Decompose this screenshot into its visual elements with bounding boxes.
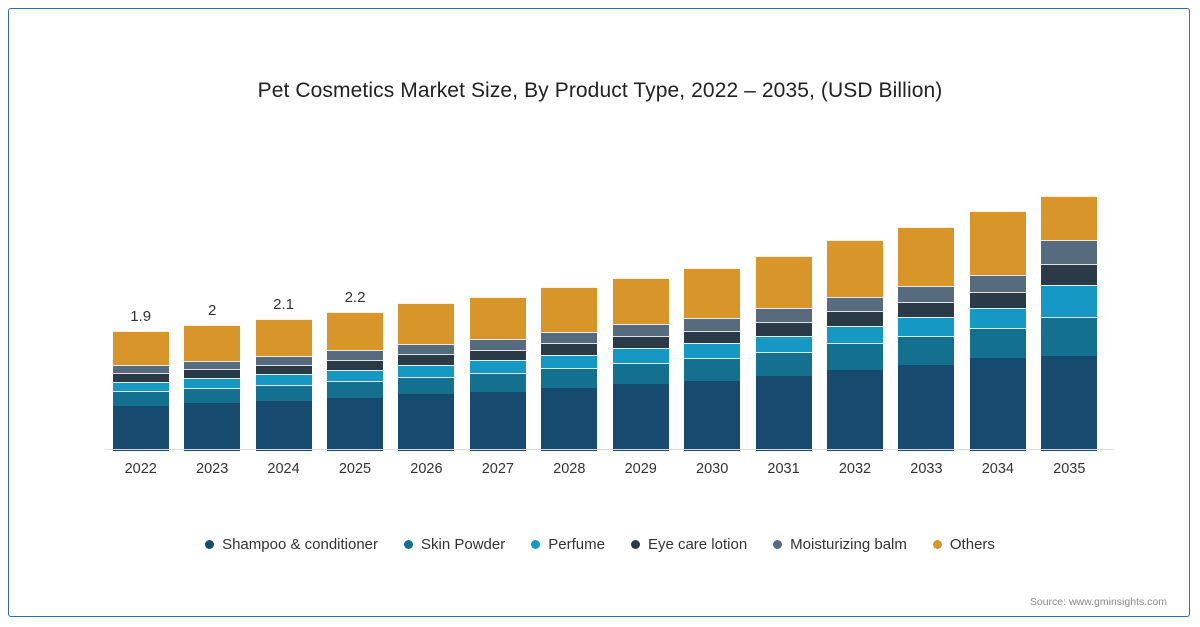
bar-segment[interactable] — [327, 350, 383, 359]
bar-segment[interactable] — [970, 328, 1026, 358]
legend-marker-icon — [531, 540, 540, 549]
bar-segment[interactable] — [113, 391, 169, 406]
bar-value-label: 2 — [172, 302, 252, 319]
legend-label: Others — [950, 536, 995, 553]
bar-segment[interactable] — [1041, 356, 1097, 451]
bar-segment[interactable] — [684, 268, 740, 318]
bar-segment[interactable] — [898, 336, 954, 364]
bar-segment[interactable] — [970, 308, 1026, 328]
stacked-bar[interactable] — [756, 256, 812, 451]
bar-segment[interactable] — [1041, 240, 1097, 263]
bar-value-label: 1.9 — [101, 308, 181, 325]
bar-segment[interactable] — [327, 370, 383, 381]
x-axis-label: 2035 — [1029, 461, 1109, 477]
bar-segment[interactable] — [327, 360, 383, 370]
stacked-bar[interactable] — [898, 227, 954, 451]
bar-segment[interactable] — [756, 336, 812, 352]
legend-marker-icon — [933, 540, 942, 549]
x-axis-label: 2030 — [672, 461, 752, 477]
bar-segment[interactable] — [684, 358, 740, 381]
legend-marker-icon — [631, 540, 640, 549]
source-attribution: Source: www.gminsights.com — [1030, 596, 1167, 608]
bar-segment[interactable] — [184, 388, 240, 403]
bar-segment[interactable] — [256, 365, 312, 374]
legend-label: Shampoo & conditioner — [222, 536, 378, 553]
bar-value-label: 2.2 — [315, 289, 395, 306]
bar-segment[interactable] — [613, 278, 669, 325]
stacked-bar[interactable] — [184, 325, 240, 451]
bar-segment[interactable] — [327, 381, 383, 398]
bar-segment[interactable] — [113, 365, 169, 373]
bar-segment[interactable] — [898, 317, 954, 336]
x-axis-label: 2033 — [886, 461, 966, 477]
bar-segment[interactable] — [256, 356, 312, 365]
bar-segment[interactable] — [898, 365, 954, 451]
legend-label: Moisturizing balm — [790, 536, 907, 553]
bar-segment[interactable] — [184, 403, 240, 451]
bar-segment[interactable] — [470, 339, 526, 350]
bar-segment[interactable] — [684, 381, 740, 451]
bar-segment[interactable] — [613, 336, 669, 348]
x-axis-label: 2029 — [601, 461, 681, 477]
bar-segment[interactable] — [827, 370, 883, 451]
bar-segment[interactable] — [827, 311, 883, 326]
bar-segment[interactable] — [1041, 317, 1097, 357]
bar-segment[interactable] — [541, 332, 597, 343]
bar-segment[interactable] — [756, 352, 812, 376]
bar-value-label: 2.1 — [244, 296, 324, 313]
stacked-bar[interactable] — [613, 278, 669, 451]
bar-segment[interactable] — [398, 344, 454, 354]
bar-segment[interactable] — [613, 363, 669, 384]
stacked-bar[interactable] — [541, 287, 597, 451]
bar-segment[interactable] — [827, 240, 883, 297]
legend-item[interactable]: Perfume — [531, 536, 605, 553]
bar-segment[interactable] — [756, 256, 812, 308]
legend-item[interactable]: Shampoo & conditioner — [205, 536, 378, 553]
x-axis-label: 2024 — [244, 461, 324, 477]
legend-item[interactable]: Skin Powder — [404, 536, 505, 553]
bar-segment[interactable] — [541, 355, 597, 368]
stacked-bar[interactable] — [827, 240, 883, 451]
bar-segment[interactable] — [113, 331, 169, 365]
bar-segment[interactable] — [470, 360, 526, 373]
legend-marker-icon — [773, 540, 782, 549]
bar-segment[interactable] — [398, 365, 454, 377]
bar-segment[interactable] — [113, 406, 169, 451]
bar-segment[interactable] — [827, 297, 883, 312]
stacked-bar[interactable] — [1041, 196, 1097, 451]
legend-item[interactable]: Others — [933, 536, 995, 553]
chart-legend: Shampoo & conditionerSkin PowderPerfumeE… — [9, 536, 1191, 553]
bar-segment[interactable] — [184, 369, 240, 378]
bar-segment[interactable] — [184, 325, 240, 361]
legend-label: Eye care lotion — [648, 536, 747, 553]
stacked-bar[interactable] — [470, 297, 526, 451]
legend-marker-icon — [205, 540, 214, 549]
legend-item[interactable]: Moisturizing balm — [773, 536, 907, 553]
x-axis-label: 2031 — [744, 461, 824, 477]
bar-segment[interactable] — [970, 211, 1026, 274]
bar-segment[interactable] — [684, 318, 740, 331]
x-axis-label: 2023 — [172, 461, 252, 477]
bar-segment[interactable] — [256, 385, 312, 401]
bar-segment[interactable] — [684, 331, 740, 344]
x-axis-label: 2034 — [958, 461, 1038, 477]
stacked-bar[interactable] — [684, 268, 740, 451]
bar-segment[interactable] — [470, 373, 526, 392]
bar-segment[interactable] — [113, 382, 169, 391]
bar-segment[interactable] — [1041, 264, 1097, 285]
plot-area: 1.922.12.2 — [105, 159, 1105, 451]
bar-segment[interactable] — [1041, 285, 1097, 317]
bar-segment[interactable] — [827, 343, 883, 369]
stacked-bar[interactable] — [970, 211, 1026, 451]
bar-segment[interactable] — [898, 302, 954, 318]
bar-segment[interactable] — [113, 373, 169, 382]
bar-segment[interactable] — [470, 350, 526, 361]
bar-segment[interactable] — [398, 394, 454, 451]
bar-segment[interactable] — [970, 358, 1026, 451]
bar-segment[interactable] — [756, 322, 812, 336]
x-axis-label: 2026 — [386, 461, 466, 477]
legend-label: Perfume — [548, 536, 605, 553]
x-axis-label: 2032 — [815, 461, 895, 477]
bar-segment[interactable] — [613, 324, 669, 336]
chart-frame: Pet Cosmetics Market Size, By Product Ty… — [8, 8, 1190, 617]
bar-segment[interactable] — [184, 361, 240, 369]
bar-segment[interactable] — [398, 354, 454, 365]
bar-segment[interactable] — [756, 376, 812, 451]
stacked-bar[interactable] — [398, 303, 454, 451]
x-axis-label: 2025 — [315, 461, 395, 477]
bar-segment[interactable] — [1041, 196, 1097, 241]
bar-segment[interactable] — [541, 287, 597, 332]
bar-segment[interactable] — [898, 286, 954, 302]
bar-segment[interactable] — [256, 374, 312, 385]
chart-title: Pet Cosmetics Market Size, By Product Ty… — [9, 79, 1191, 103]
legend-label: Skin Powder — [421, 536, 505, 553]
legend-item[interactable]: Eye care lotion — [631, 536, 747, 553]
bar-segment[interactable] — [256, 319, 312, 356]
bar-segment[interactable] — [256, 401, 312, 451]
bar-segment[interactable] — [898, 227, 954, 286]
bar-segment[interactable] — [541, 388, 597, 451]
bar-segment[interactable] — [184, 378, 240, 388]
bar-segment[interactable] — [327, 398, 383, 451]
stacked-bar[interactable] — [113, 331, 169, 451]
bar-segment[interactable] — [398, 377, 454, 395]
bar-segment[interactable] — [470, 392, 526, 451]
bar-segment[interactable] — [541, 368, 597, 388]
bar-segment[interactable] — [470, 297, 526, 339]
bar-segment[interactable] — [398, 303, 454, 344]
x-axis-label: 2022 — [101, 461, 181, 477]
bar-segment[interactable] — [684, 343, 740, 358]
bar-segment[interactable] — [970, 275, 1026, 292]
bar-segment[interactable] — [756, 308, 812, 322]
legend-marker-icon — [404, 540, 413, 549]
bar-segment[interactable] — [541, 343, 597, 354]
bar-segment[interactable] — [970, 292, 1026, 308]
x-axis-label: 2028 — [529, 461, 609, 477]
x-axis-label: 2027 — [458, 461, 538, 477]
stacked-bar[interactable] — [256, 319, 312, 451]
x-axis-baseline — [105, 449, 1113, 450]
stacked-bar[interactable] — [327, 312, 383, 451]
bar-segment[interactable] — [613, 348, 669, 363]
bar-segment[interactable] — [827, 326, 883, 344]
bar-segment[interactable] — [613, 384, 669, 451]
bar-segment[interactable] — [327, 312, 383, 350]
